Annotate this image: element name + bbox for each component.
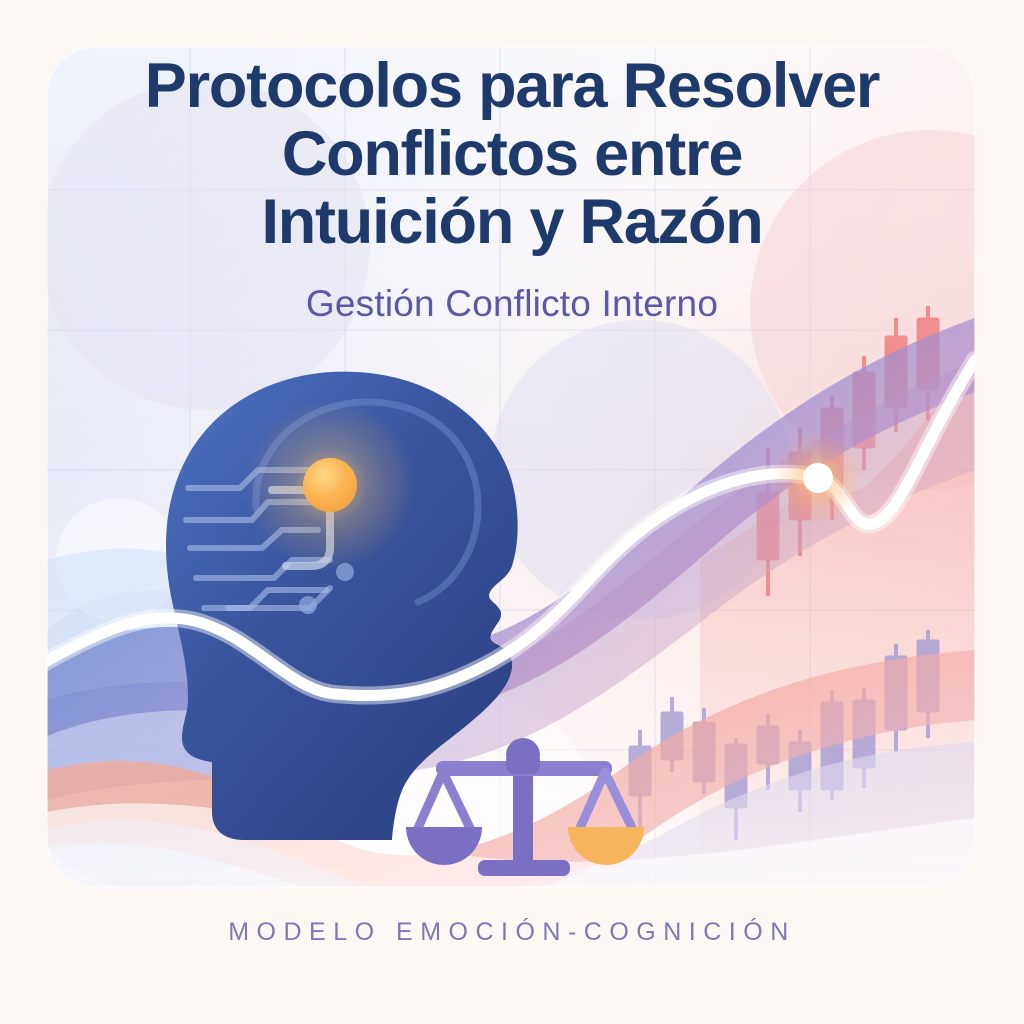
illustration-artwork bbox=[0, 0, 1024, 1024]
glow-node-icon bbox=[244, 399, 416, 571]
trend-marker-dot bbox=[772, 432, 864, 524]
poster-canvas: Protocolos para Resolver Conflictos entr… bbox=[0, 0, 1024, 1024]
illustration-card bbox=[0, 47, 1024, 948]
